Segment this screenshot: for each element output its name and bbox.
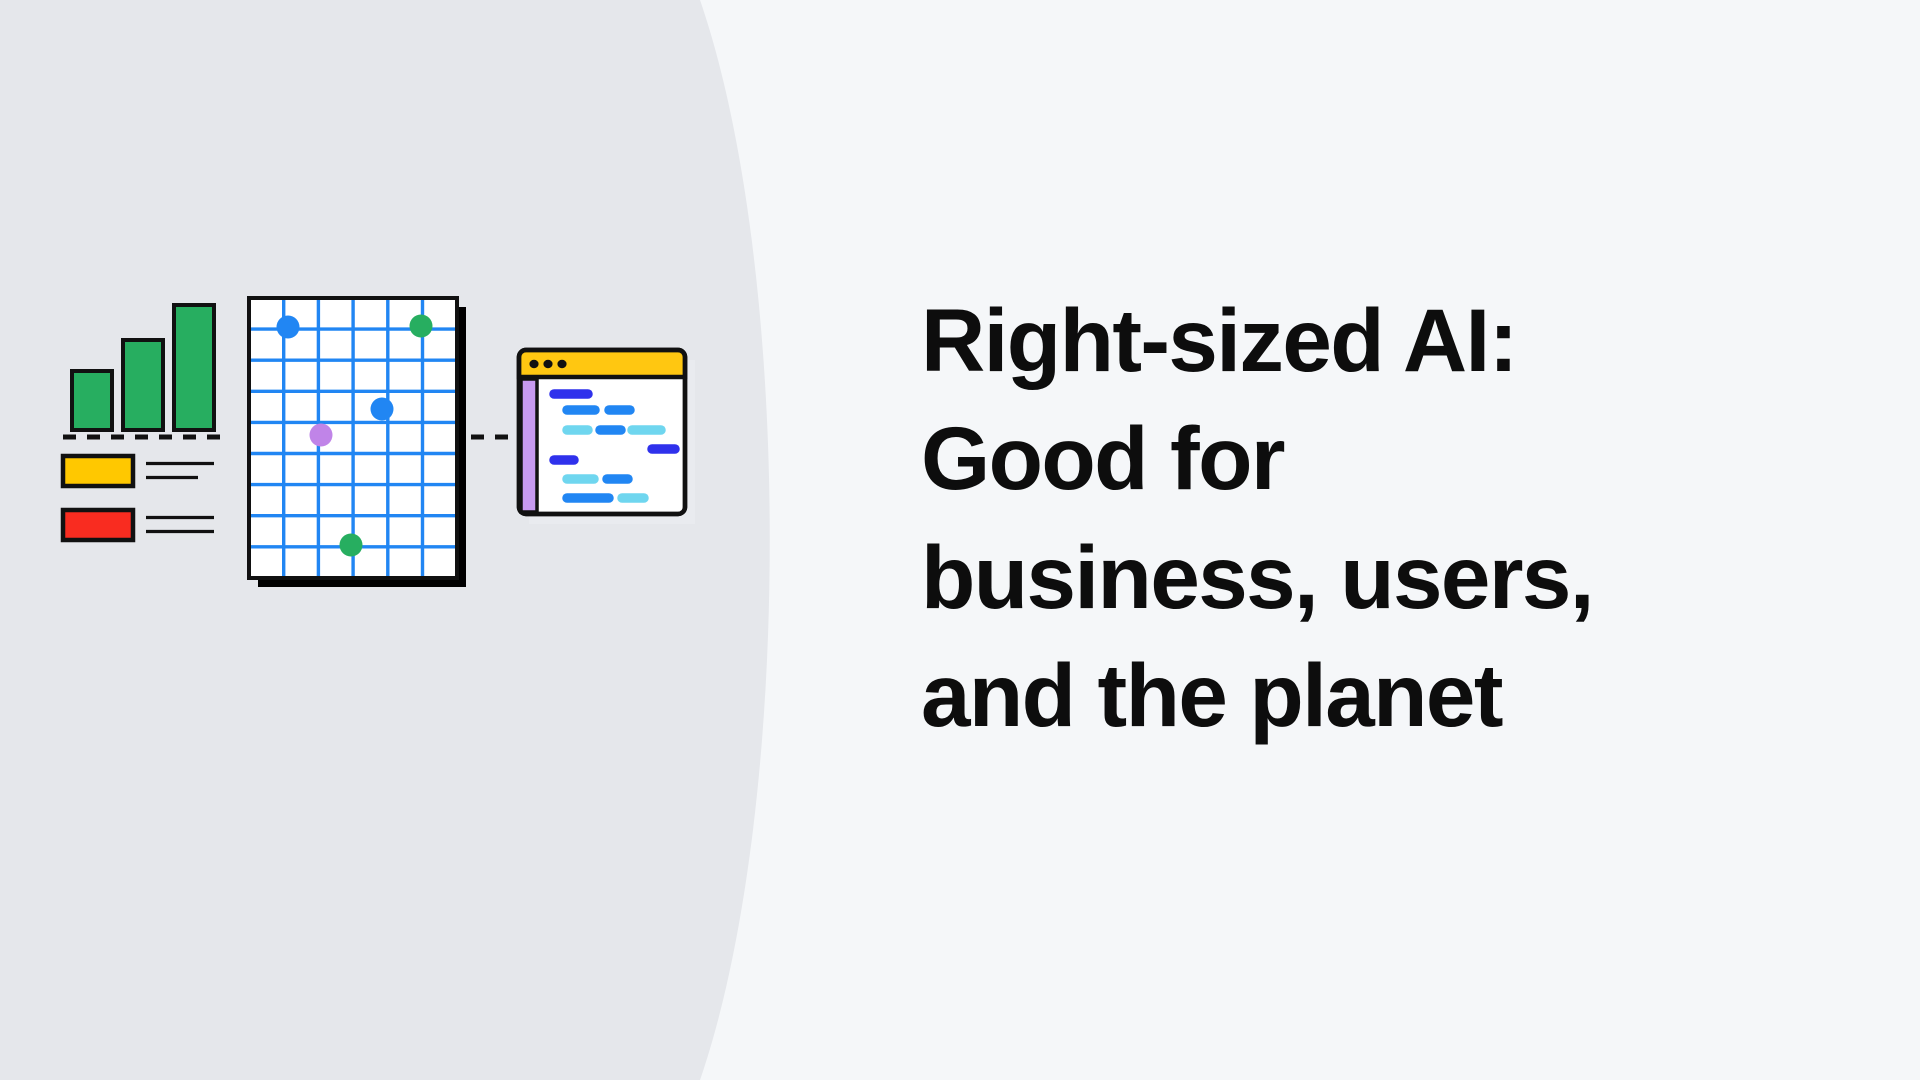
legend-row-red [63,510,214,540]
bar-chart-bar-1 [72,371,112,430]
bar-chart-bar-3 [174,305,214,430]
code-window-sidebar [521,379,537,512]
bar-chart-bar-2 [123,340,163,430]
page-title-line-1: Right-sized AI: [921,281,1801,399]
scatter-point-blue-1 [277,316,300,339]
scatter-point-purple-1 [310,424,333,447]
scatter-point-green-1 [410,315,433,338]
page-title: Right-sized AI: Good for business, users… [921,281,1801,754]
legend-swatch-yellow [63,456,133,486]
window-dot-1-icon[interactable] [529,360,538,368]
legend-row-yellow [63,456,214,486]
code-window-dots[interactable] [529,360,566,368]
scatter-point-blue-2 [371,398,394,421]
window-dot-2-icon[interactable] [543,360,552,368]
scatter-point-green-2 [340,534,363,557]
page-title-line-2: Good for [921,399,1801,517]
pipeline-illustration [0,0,900,1080]
scatter-grid-panel [249,298,466,587]
legend-swatch-red [63,510,133,540]
window-dot-3-icon[interactable] [557,360,566,368]
legend [63,456,214,540]
bar-chart [72,305,214,430]
page-title-line-3: business, users, [921,518,1801,636]
code-window [519,350,695,524]
page-title-line-4: and the planet [921,636,1801,754]
